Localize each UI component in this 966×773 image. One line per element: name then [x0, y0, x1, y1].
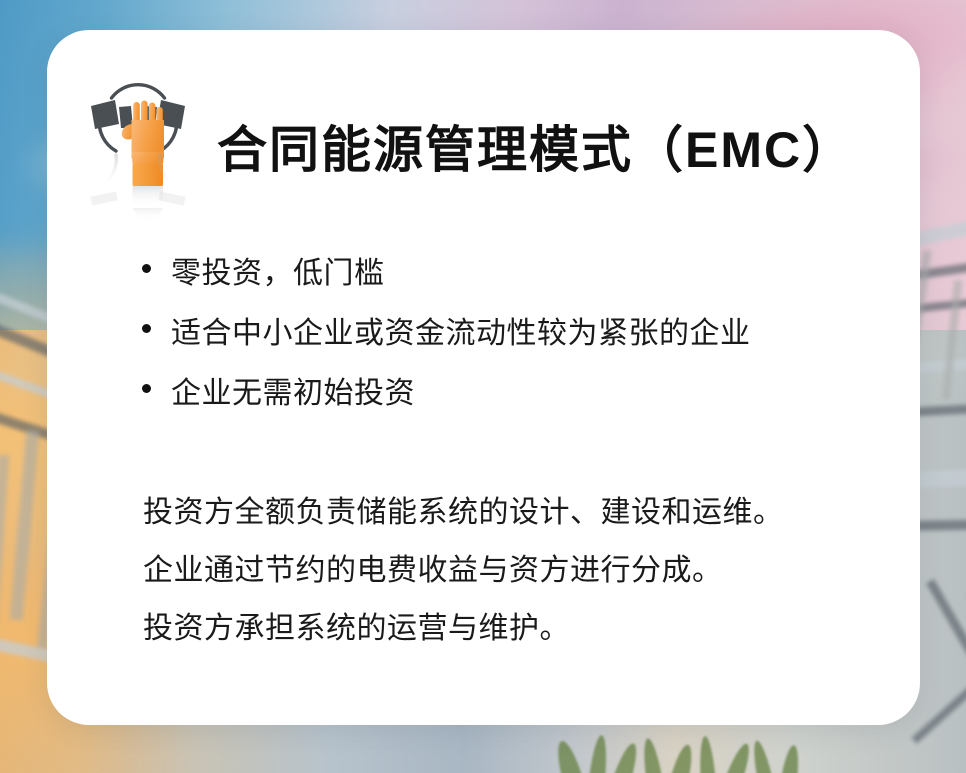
screenshot-root: 合同能源管理模式（EMC） 零投资，低门槛 适合中小企业或资金流动性较为紧张的企… [0, 0, 966, 773]
list-item-label: 零投资，低门槛 [171, 255, 385, 293]
list-item-label: 企业无需初始投资 [171, 375, 415, 413]
description-line: 投资方承担系统的运营与维护。 [143, 614, 903, 644]
list-item: 企业无需初始投资 [142, 375, 902, 417]
hand-in-circle-emc-icon [85, 76, 191, 221]
feature-bullet-list: 零投资，低门槛 适合中小企业或资金流动性较为紧张的企业 企业无需初始投资 [142, 255, 902, 435]
bullet-dot-icon [142, 324, 151, 333]
description-line: 投资方全额负责储能系统的设计、建设和运维。 [143, 498, 903, 528]
bullet-dot-icon [142, 384, 151, 393]
list-item: 零投资，低门槛 [142, 255, 902, 297]
description-block: 投资方全额负责储能系统的设计、建设和运维。 企业通过节约的电费收益与资方进行分成… [143, 498, 903, 644]
list-item: 适合中小企业或资金流动性较为紧张的企业 [142, 315, 902, 357]
list-item-label: 适合中小企业或资金流动性较为紧张的企业 [171, 315, 751, 353]
content-card: 合同能源管理模式（EMC） 零投资，低门槛 适合中小企业或资金流动性较为紧张的企… [47, 30, 920, 725]
description-line: 企业通过节约的电费收益与资方进行分成。 [143, 556, 903, 586]
card-header: 合同能源管理模式（EMC） [47, 30, 920, 220]
page-title: 合同能源管理模式（EMC） [217, 125, 854, 175]
wrist-cuff [133, 164, 164, 186]
left-wing [91, 100, 133, 129]
bullet-dot-icon [142, 264, 151, 273]
